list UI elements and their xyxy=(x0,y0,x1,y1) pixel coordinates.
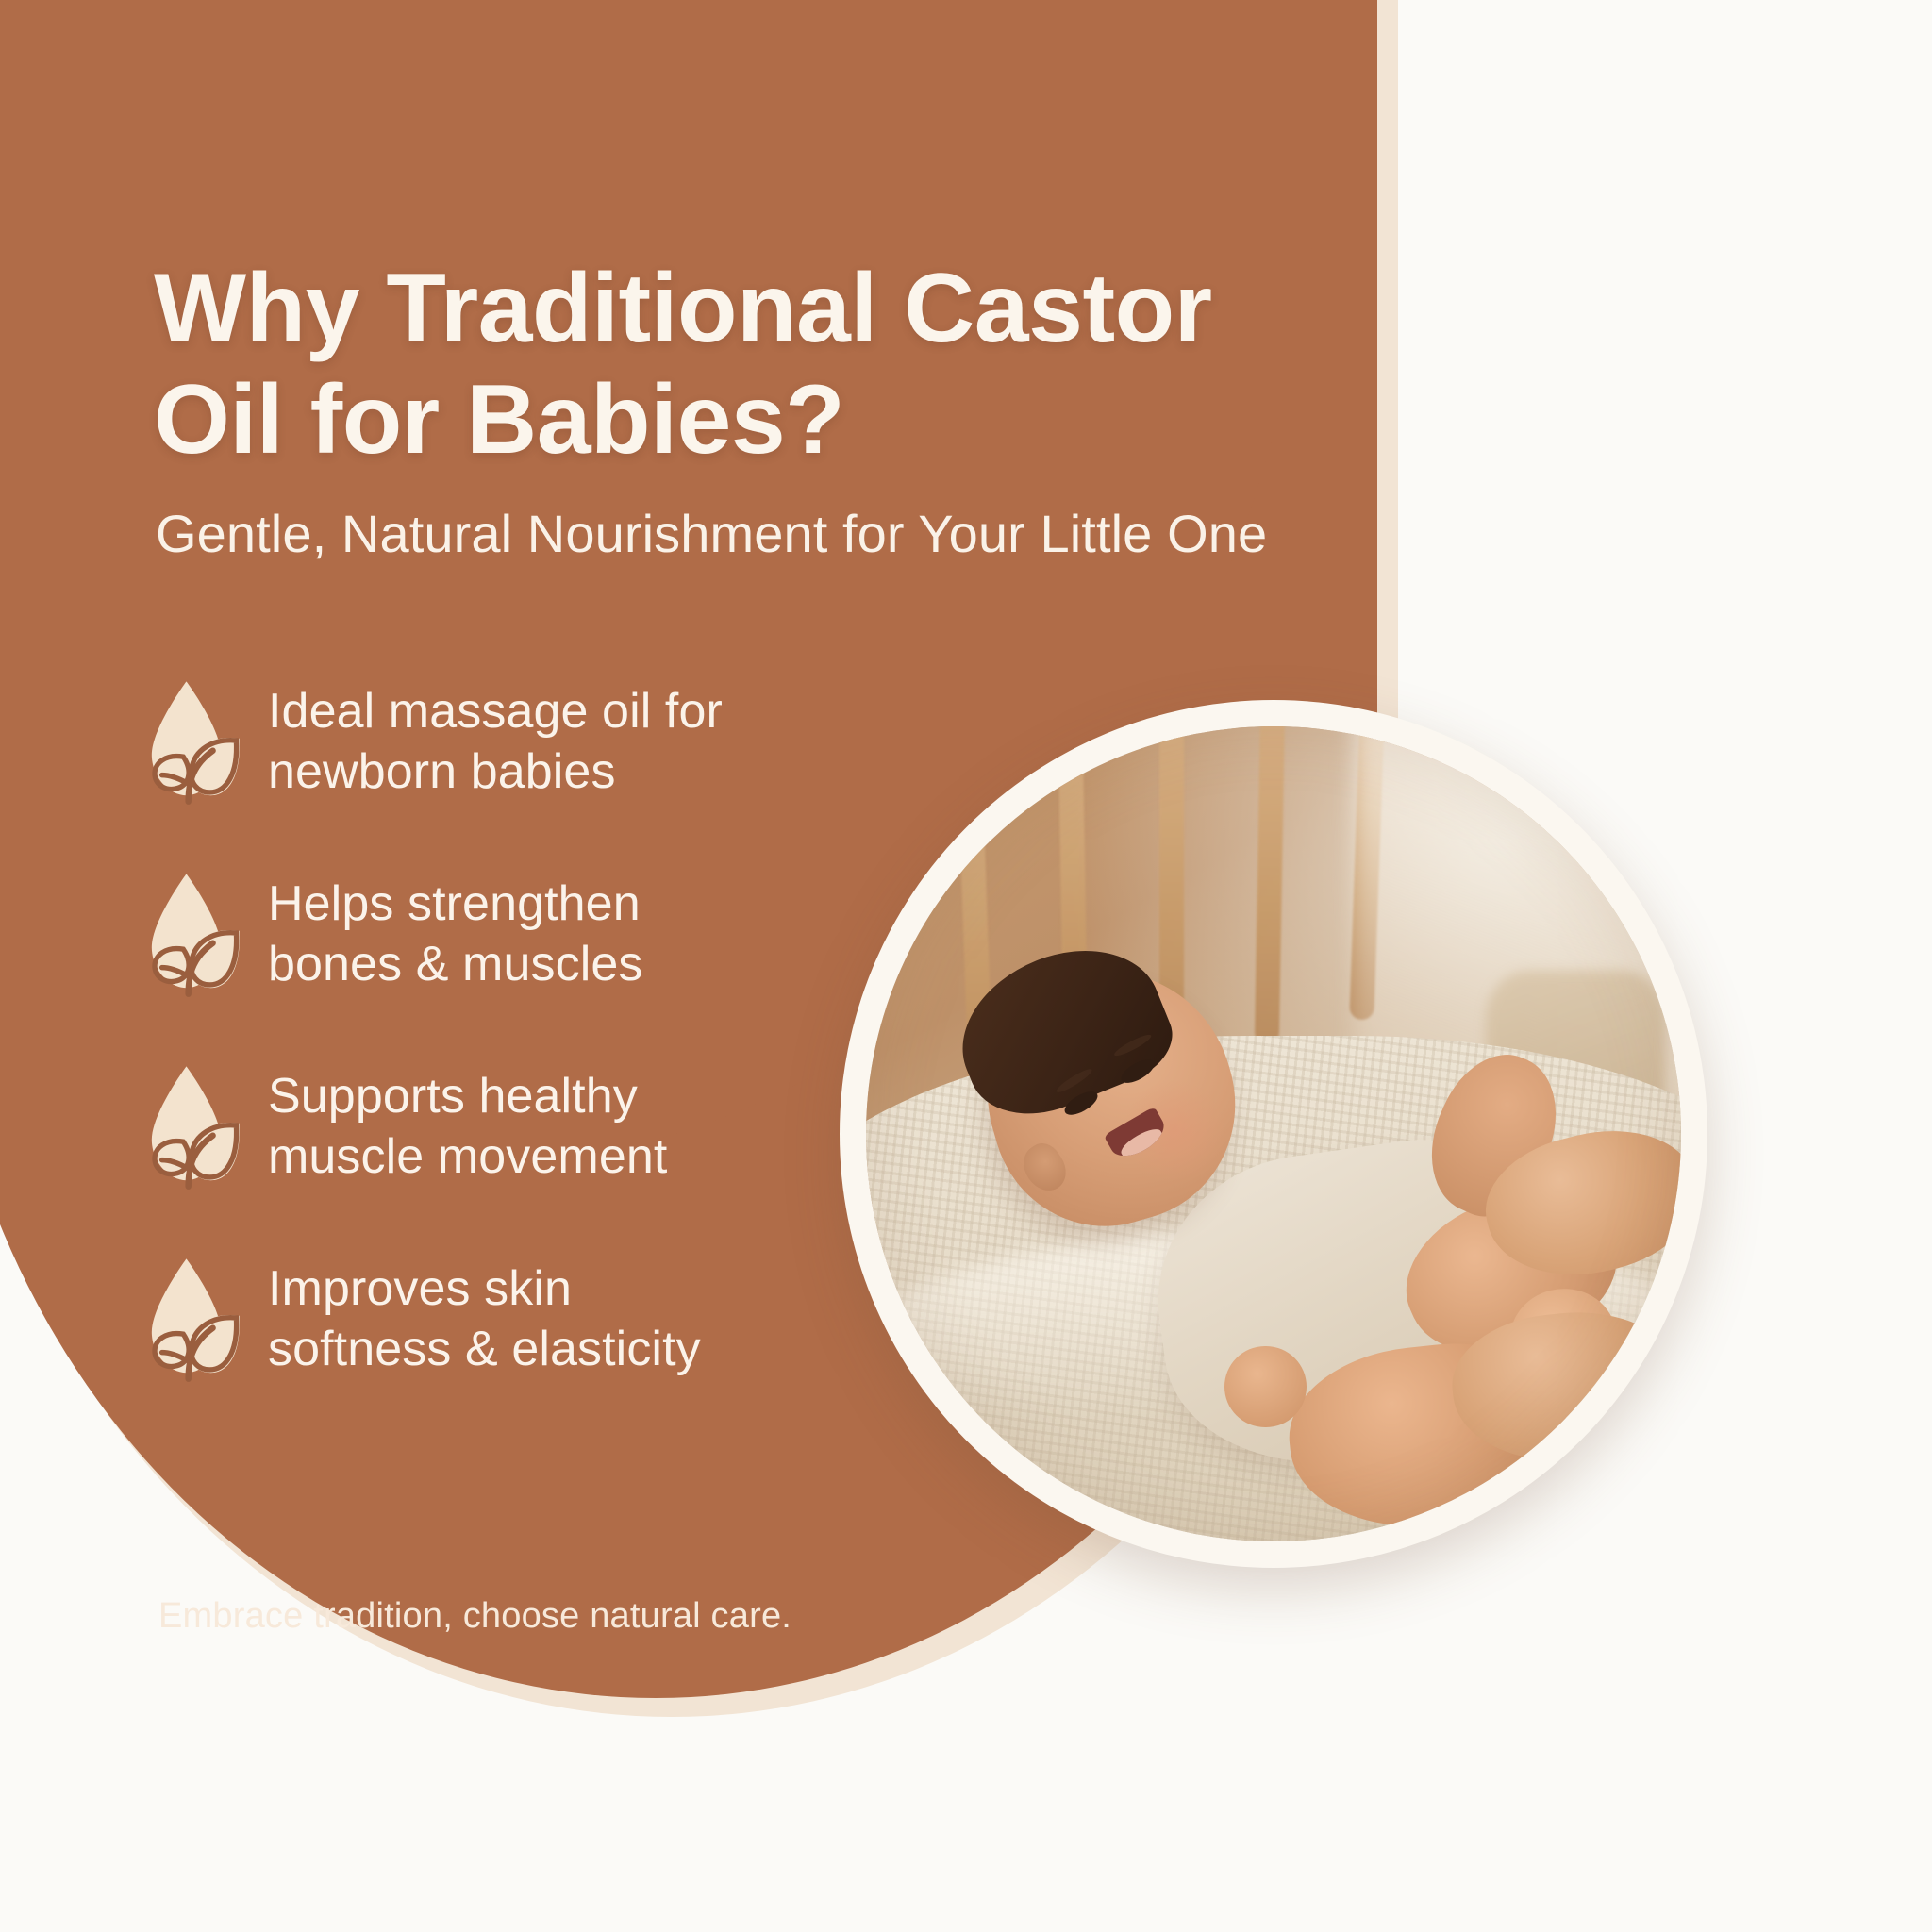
list-item: Supports healthy muscle movement xyxy=(142,1057,764,1207)
list-item: Helps strengthen bones & muscles xyxy=(142,864,764,1015)
tagline: Embrace tradition, choose natural care. xyxy=(158,1596,791,1637)
photo-scene xyxy=(866,726,1681,1541)
leaf-droplet-icon xyxy=(142,870,243,998)
benefits-list: Ideal massage oil for newborn babies Hel… xyxy=(142,672,764,1441)
list-item: Ideal massage oil for newborn babies xyxy=(142,672,764,823)
baby-photo xyxy=(866,726,1681,1541)
list-item: Improves skin softness & elasticity xyxy=(142,1249,764,1400)
list-item-label: Helps strengthen bones & muscles xyxy=(268,864,764,995)
baby-ear xyxy=(1014,1137,1074,1198)
leaf-droplet-icon xyxy=(142,677,243,806)
list-item-label: Improves skin softness & elasticity xyxy=(268,1249,764,1380)
list-item-label: Supports healthy muscle movement xyxy=(268,1057,764,1188)
page-title: Why Traditional Castor Oil for Babies? xyxy=(154,253,1286,476)
subtitle: Gentle, Natural Nourishment for Your Lit… xyxy=(156,502,1335,565)
photo-ring xyxy=(840,700,1707,1568)
list-item-label: Ideal massage oil for newborn babies xyxy=(268,672,764,803)
leaf-droplet-icon xyxy=(142,1255,243,1383)
baby-fist xyxy=(1224,1346,1306,1427)
leaf-droplet-icon xyxy=(142,1062,243,1191)
poster: Why Traditional Castor Oil for Babies? G… xyxy=(0,0,1932,1932)
